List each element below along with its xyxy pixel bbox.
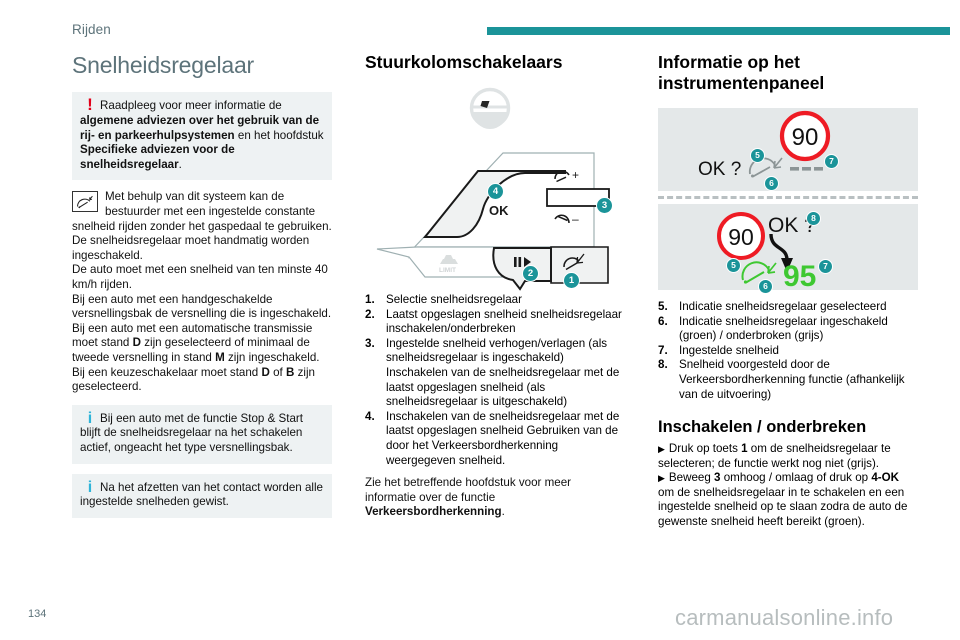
info-callout-1-text: iBij een auto met de functie Stop & Star… <box>80 412 324 456</box>
ok-text-top: OK ? <box>698 159 741 180</box>
info-icon: i <box>80 481 100 496</box>
page-title: Snelheidsregelaar <box>72 52 332 78</box>
list-number: 7. <box>658 344 675 359</box>
cluster-badge-6-bottom: 6 <box>758 279 773 294</box>
stalk-outline: OK + – <box>365 131 625 291</box>
steering-column-stalk-diagram: OK + – <box>365 87 625 285</box>
warning-exclamation-icon: ! <box>80 98 100 113</box>
page-header: Rijden <box>0 0 960 44</box>
speed-value-bottom: 95 <box>783 260 816 290</box>
list-number: 6. <box>658 315 675 330</box>
info-callout-2-text: iNa het afzetten van het contact worden … <box>80 481 324 510</box>
body-line-1: De auto moet met een snelheid van ten mi… <box>72 263 332 292</box>
info-callout-2-body: Na het afzetten van het contact worden a… <box>80 481 323 509</box>
list-text: Inschakelen van de snelheidsregelaar met… <box>386 410 619 467</box>
sign-value-bottom: 90 <box>728 224 754 250</box>
list-item: 7.Ingestelde snelheid <box>658 344 918 359</box>
column-left: Snelheidsregelaar !Raadpleeg voor meer i… <box>72 52 332 528</box>
intro-paragraph: Met behulp van dit systeem kan de bestuu… <box>72 190 332 234</box>
cluster-grey-graphic: 90 OK ? <box>658 108 918 191</box>
list-item: 6.Indicatie snelheidsregelaar ingeschake… <box>658 315 918 344</box>
list-text: Selectie snelheidsregelaar <box>386 293 522 306</box>
limit-label: LIMIT <box>439 267 456 274</box>
subhead-activate: Inschakelen / onderbreken <box>658 418 918 438</box>
list-item: 5.Indicatie snelheidsregelaar geselectee… <box>658 300 918 315</box>
cluster-badge-5-top: 5 <box>750 148 765 163</box>
list-text: Ingestelde snelheid <box>679 344 779 357</box>
page-number: 134 <box>28 608 46 620</box>
list-number: 8. <box>658 358 675 373</box>
sign-value-top: 90 <box>792 124 819 151</box>
info-callout-1-body: Bij een auto met de functie Stop & Start… <box>80 412 303 454</box>
list-text: Snelheid voorgesteld door de Verkeersbor… <box>679 358 905 400</box>
cluster-badge-7-top: 7 <box>824 154 839 169</box>
section-title-cluster: Informatie op het instrumentenpaneel <box>658 52 918 94</box>
arrow-right-icon: ▶ <box>658 473 665 483</box>
steering-wheel-icon <box>463 87 517 129</box>
list-number: 3. <box>365 337 382 352</box>
cluster-badge-7-bottom: 7 <box>818 259 833 274</box>
stalk-function-list: 1.Selectie snelheidsregelaar 2.Laatst op… <box>365 293 625 468</box>
list-text: Laatst opgeslagen snelheid snelheidsrege… <box>386 308 622 336</box>
list-text: Indicatie snelheidsregelaar geselecteerd <box>679 300 887 313</box>
list-number: 2. <box>365 308 382 323</box>
list-item: 2.Laatst opgeslagen snelheid snelheidsre… <box>365 308 625 337</box>
body-rich-2: Bij een keuzeschakelaar moet stand D of … <box>72 366 332 395</box>
list-item: 4.Inschakelen van de snelheidsregelaar m… <box>365 410 625 468</box>
list-item: 1.Selectie snelheidsregelaar <box>365 293 625 308</box>
figure-separator <box>658 196 918 199</box>
arrow-item-2: ▶Beweeg 3 omhoog / omlaag of druk op 4-O… <box>658 471 918 529</box>
list-number: 4. <box>365 410 382 425</box>
intro-paragraph-text: Met behulp van dit systeem kan de bestuu… <box>72 190 332 232</box>
info-icon: i <box>80 412 100 427</box>
info-callout-2: iNa het afzetten van het contact worden … <box>72 474 332 518</box>
list-number: 1. <box>365 293 382 308</box>
list-text: Ingestelde snelheid verhogen/verlagen (a… <box>386 337 619 408</box>
info-callout-1: iBij een auto met de functie Stop & Star… <box>72 405 332 464</box>
column-middle: Stuurkolomschakelaars OK <box>365 52 625 520</box>
cluster-function-list: 5.Indicatie snelheidsregelaar geselectee… <box>658 300 918 402</box>
cluster-green-graphic: 90 OK ? 95 <box>658 204 918 290</box>
list-item: 3.Ingestelde snelheid verhogen/verlagen … <box>365 337 625 410</box>
cluster-badge-8: 8 <box>806 211 821 226</box>
arrow-item-1-text: Druk op toets 1 om de snelheidsregelaar … <box>658 442 891 470</box>
list-item: 8.Snelheid voorgesteld door de Verkeersb… <box>658 358 918 402</box>
cluster-badge-5-bottom: 5 <box>726 258 741 273</box>
cluster-figures: 90 OK ? 5 <box>658 108 918 290</box>
arrow-item-2-text: Beweeg 3 omhoog / omlaag of druk op 4-OK… <box>658 471 907 528</box>
figure-badge-3: 3 <box>596 197 613 214</box>
cluster-display-grey-state: 90 OK ? 5 <box>658 108 918 191</box>
figure-badge-1: 1 <box>563 272 580 289</box>
body-line-0: De snelheidsregelaar moet handmatig word… <box>72 234 332 263</box>
stalk-ok-label: OK <box>489 203 509 218</box>
section-title-stalks: Stuurkolomschakelaars <box>365 52 625 73</box>
warning-rich-text: Raadpleeg voor meer informatie de algeme… <box>80 99 324 170</box>
cluster-badge-6-top: 6 <box>764 176 779 191</box>
list-text: Indicatie snelheidsregelaar ingeschakeld… <box>679 315 888 343</box>
warning-callout-text: !Raadpleeg voor meer informatie de algem… <box>80 99 324 172</box>
body-line-2: Bij een auto met een handgeschakelde ver… <box>72 293 332 322</box>
svg-text:–: – <box>572 212 579 226</box>
arrow-right-icon: ▶ <box>658 444 665 454</box>
body-rich-1: Bij een auto met een automatische transm… <box>72 322 332 366</box>
warning-callout: !Raadpleeg voor meer informatie de algem… <box>72 92 332 180</box>
manual-page: Rijden Snelheidsregelaar !Raadpleeg voor… <box>0 0 960 640</box>
figure-badge-2: 2 <box>522 265 539 282</box>
speedometer-icon <box>72 191 98 212</box>
cluster-display-green-state: 90 OK ? 95 8 5 <box>658 204 918 290</box>
closing-paragraph: Zie het betreffende hoofdstuk voor meer … <box>365 476 625 520</box>
figure-badge-4: 4 <box>487 183 504 200</box>
header-rule <box>487 27 950 35</box>
breadcrumb: Rijden <box>72 22 111 37</box>
arrow-item-1: ▶Druk op toets 1 om de snelheidsregelaar… <box>658 442 918 471</box>
list-number: 5. <box>658 300 675 315</box>
svg-text:+: + <box>572 168 579 182</box>
watermark: carmanualsonline.info <box>675 605 893 631</box>
column-right: Informatie op het instrumentenpaneel 90 … <box>658 52 918 530</box>
